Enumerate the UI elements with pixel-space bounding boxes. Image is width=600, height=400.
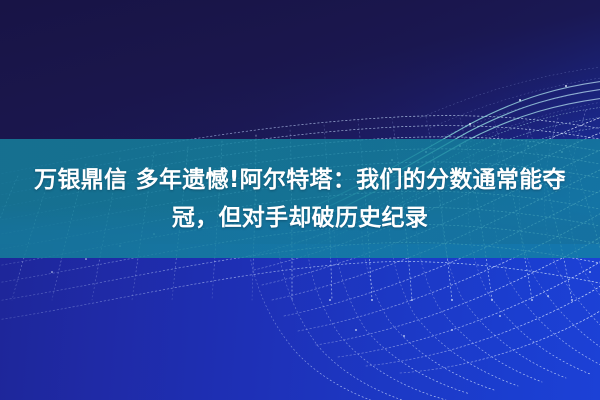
page-title: 万银鼎信 多年遗憾!阿尔特塔：我们的分数通常能夺冠，但对手却破历史纪录 xyxy=(10,161,590,237)
headline-band: 万银鼎信 多年遗憾!阿尔特塔：我们的分数通常能夺冠，但对手却破历史纪录 xyxy=(0,139,600,258)
banner-image: 万银鼎信 多年遗憾!阿尔特塔：我们的分数通常能夺冠，但对手却破历史纪录 xyxy=(0,0,600,400)
